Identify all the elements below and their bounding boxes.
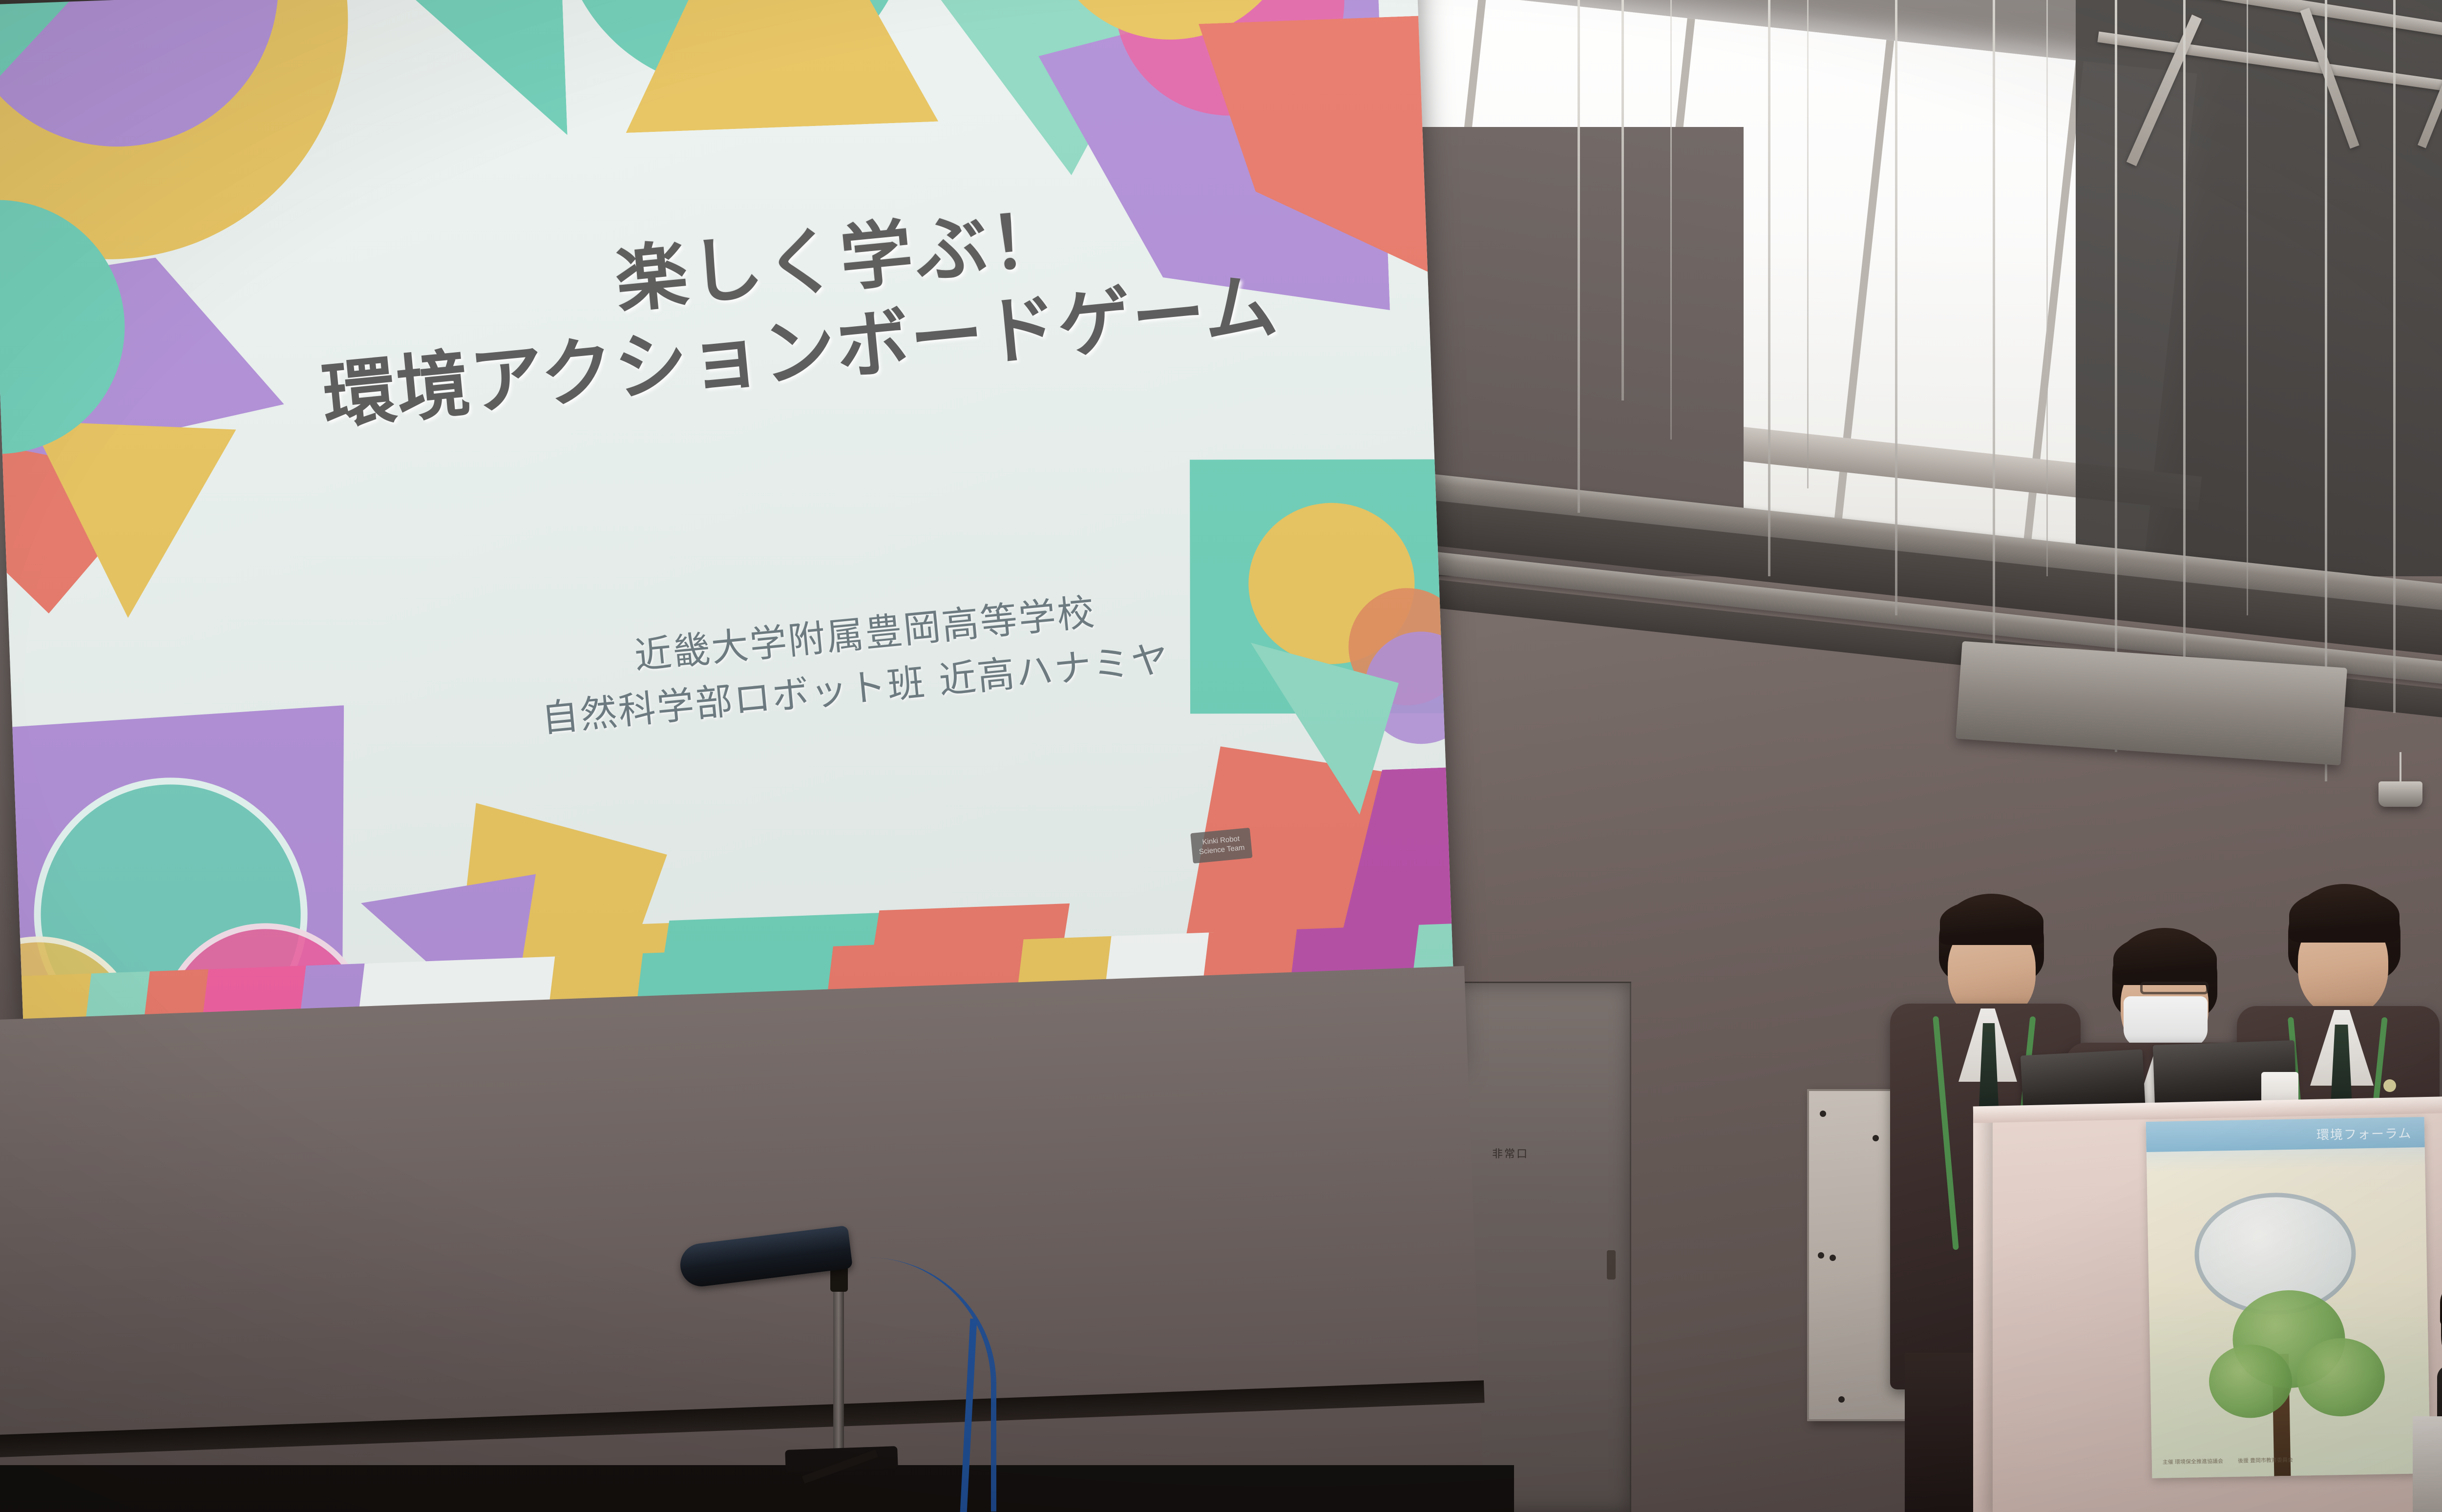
microphone-stand[interactable] [833,1280,844,1455]
hanging-rod [1578,0,1580,513]
hanging-rod [1768,0,1770,576]
hanging-rod [2393,0,2396,713]
hanging-rod [1895,0,1897,615]
deco-triangle-teal [325,0,568,144]
hanging-rod [1670,0,1672,440]
upper-wall-shadow [2076,0,2442,635]
stage-foreground-shadow [0,1465,1514,1512]
hanging-rod [2247,0,2248,615]
hair-front [1940,899,2043,945]
poster-tree-canopy [2296,1338,2385,1417]
door-sign-label: 非常口 [1492,1145,1529,1161]
slide-credit-badge: Kinki Robot Science Team [1190,828,1252,863]
projection-screen: 楽しく学ぶ！ 環境アクションボードゲーム 近畿大学附属豊岡高等学校 自然科学部ロ… [0,0,1456,1108]
hanging-rod [2115,0,2117,752]
hanging-rod [1993,0,1995,684]
slide-title-block: 楽しく学ぶ！ 環境アクションボードゲーム [265,174,1326,444]
hair-front [2440,1275,2442,1330]
hair-front [2113,934,2217,985]
slide-subtitle-block: 近畿大学附属豊岡高等学校 自然科学部ロボット班 近高ハナミヤ [447,570,1260,755]
hanging-rod [1621,0,1624,400]
photo-canvas: 非常口 [0,0,2442,1512]
eyeglasses-icon [2140,982,2209,994]
ceiling-lamp [2379,781,2422,807]
presentation-slide: 楽しく学ぶ！ 環境アクションボードゲーム 近畿大学附属豊岡高等学校 自然科学部ロ… [0,0,1456,1108]
poster-banner: 環境フォーラム [2146,1117,2425,1152]
podium-poster: 環境フォーラム 主催 環境保全推進協議会 後援 豊岡市教育委員会 [2146,1117,2431,1478]
hanging-rod [2325,0,2327,781]
lapel-pin-icon [2383,1079,2396,1092]
hair-front [2289,889,2400,943]
poster-banner-text: 環境フォーラム [2316,1123,2412,1143]
door-handle[interactable] [1607,1250,1616,1280]
hanging-rod [2183,0,2186,684]
hanging-rod [1807,0,1809,488]
poster-credit-left: 主催 環境保全推進協議会 [2163,1457,2223,1467]
poster-credit-right: 後援 豊岡市教育委員会 [2238,1456,2293,1465]
poster-fineprint: 主催 環境保全推進協議会 後援 豊岡市教育委員会 [2163,1454,2420,1467]
hanging-rod [2046,0,2048,576]
chair-back [2413,1416,2442,1512]
